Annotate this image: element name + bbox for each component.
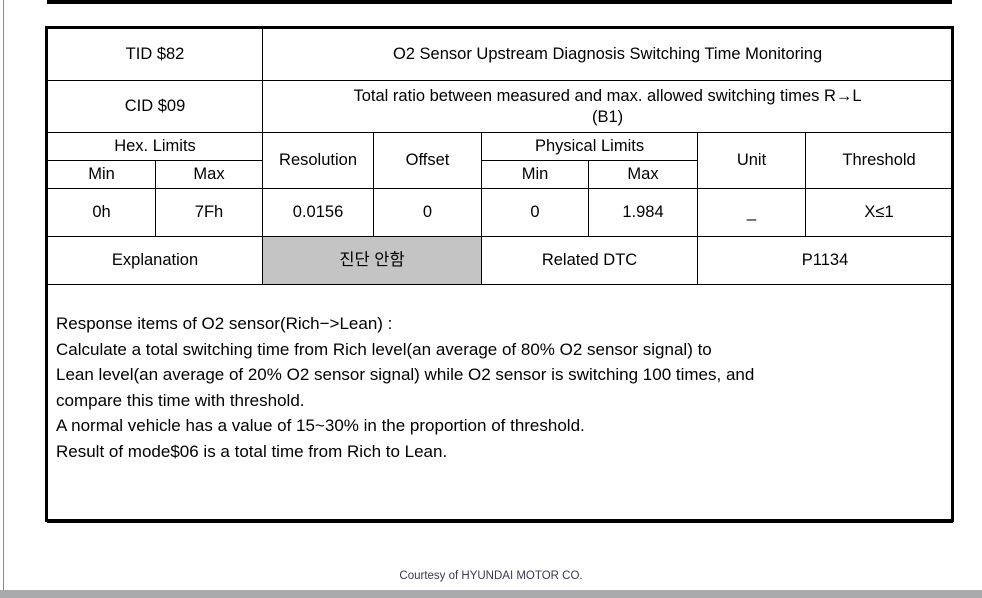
value-threshold: X≤1	[806, 189, 953, 237]
header-hex-min: Min	[48, 161, 156, 189]
explanation-value: 진단 안함	[263, 237, 482, 285]
body-line-5: A normal vehicle has a value of 15~30% i…	[56, 413, 952, 439]
header-phys-max: Max	[589, 161, 698, 189]
header-hex-limits: Hex. Limits	[48, 133, 263, 161]
related-dtc-value: P1134	[698, 237, 953, 285]
value-resolution: 0.0156	[263, 189, 374, 237]
tid-title: O2 Sensor Upstream Diagnosis Switching T…	[263, 29, 953, 81]
page-left-rule	[3, 0, 4, 590]
cid-description-line2: (B1)	[263, 107, 952, 128]
tid-label: TID $82	[48, 29, 263, 81]
value-offset: 0	[374, 189, 482, 237]
value-phys-max: 1.984	[589, 189, 698, 237]
table-row-explanation: Explanation 진단 안함 Related DTC P1134	[48, 237, 953, 285]
cid-description: Total ratio between measured and max. al…	[263, 81, 953, 133]
page-bottom-strip	[0, 590, 982, 598]
footer-courtesy-note: Courtesy of HYUNDAI MOTOR CO.	[0, 570, 982, 582]
header-phys-min: Min	[482, 161, 589, 189]
previous-table-bottom-edge	[47, 0, 952, 4]
table-row-values: 0h 7Fh 0.0156 0 0 1.984 _ X≤1	[48, 189, 953, 237]
related-dtc-label: Related DTC	[482, 237, 698, 285]
header-resolution: Resolution	[263, 133, 374, 189]
header-threshold: Threshold	[806, 133, 953, 189]
value-unit: _	[698, 189, 806, 237]
header-physical-limits: Physical Limits	[482, 133, 698, 161]
table-row-tid: TID $82 O2 Sensor Upstream Diagnosis Swi…	[48, 29, 953, 81]
body-line-4: compare this time with threshold.	[56, 388, 952, 414]
header-unit: Unit	[698, 133, 806, 189]
explanation-label: Explanation	[48, 237, 263, 285]
header-offset: Offset	[374, 133, 482, 189]
table-row-body: Response items of O2 sensor(Rich−>Lean) …	[48, 285, 953, 523]
body-line-3: Lean level(an average of 20% O2 sensor s…	[56, 362, 952, 388]
cid-description-line1: Total ratio between measured and max. al…	[263, 86, 952, 107]
value-hex-min: 0h	[48, 189, 156, 237]
header-hex-max: Max	[156, 161, 263, 189]
body-line-6: Result of mode$06 is a total time from R…	[56, 439, 952, 465]
body-line-1: Response items of O2 sensor(Rich−>Lean) …	[56, 311, 952, 337]
value-hex-max: 7Fh	[156, 189, 263, 237]
value-phys-min: 0	[482, 189, 589, 237]
table-row-header-top: Hex. Limits Resolution Offset Physical L…	[48, 133, 953, 161]
diagnostic-parameter-table: TID $82 O2 Sensor Upstream Diagnosis Swi…	[47, 28, 953, 523]
body-line-2: Calculate a total switching time from Ri…	[56, 337, 952, 363]
cid-label: CID $09	[48, 81, 263, 133]
table-row-cid: CID $09 Total ratio between measured and…	[48, 81, 953, 133]
body-description: Response items of O2 sensor(Rich−>Lean) …	[48, 285, 953, 523]
